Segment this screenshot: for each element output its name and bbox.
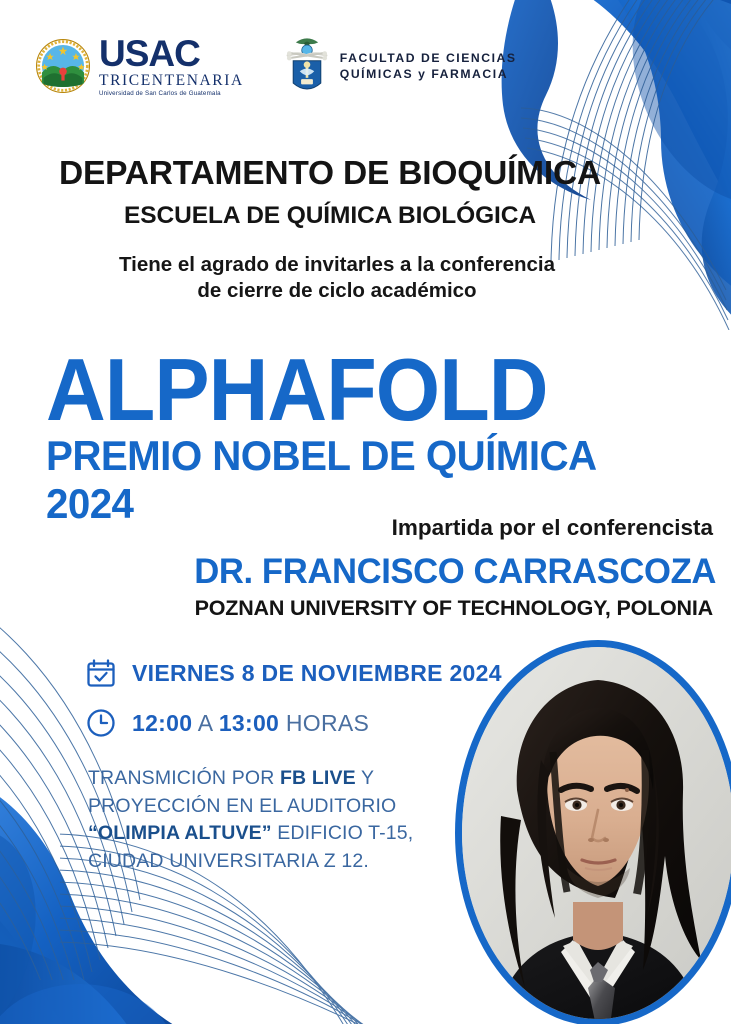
- clock-icon: [85, 707, 117, 739]
- venue-line-4: CIUDAD UNIVERSITARIA Z 12.: [88, 850, 369, 872]
- venue-line-2: PROYECCIÓN EN EL AUDITORIO: [88, 795, 396, 817]
- faculty-logo: FACULTAD DE CIENCIAS QUÍMICAS y FARMACIA: [284, 33, 517, 99]
- usac-acronym: USAC: [99, 35, 244, 72]
- usac-logo: USAC TRICENTENARIA Universidad de San Ca…: [36, 35, 244, 97]
- invitation-line-2: de cierre de ciclo académico: [0, 278, 674, 304]
- faculty-line-2: QUÍMICAS y FARMACIA: [340, 66, 517, 82]
- date-row: VIERNES 8 DE NOVIEMBRE 2024: [85, 657, 502, 689]
- venue-line-1-post: Y: [356, 767, 374, 789]
- speaker-photo: [455, 640, 731, 1024]
- time-unit: HORAS: [286, 710, 369, 736]
- speaker-intro: Impartida por el conferencista: [0, 515, 713, 541]
- venue-auditorium-name: “OLIMPIA ALTUVE”: [88, 822, 272, 844]
- speaker-portrait-illustration: [455, 640, 731, 1024]
- main-title: ALPHAFOLD: [46, 348, 648, 432]
- event-time: 12:00 A 13:00 HORAS: [132, 710, 369, 737]
- venue-line-1-pre: TRANSMICIÓN POR: [88, 767, 280, 789]
- usac-wordmark: USAC TRICENTENARIA Universidad de San Ca…: [99, 35, 244, 97]
- usac-tricentenaria: TRICENTENARIA: [99, 73, 244, 89]
- usac-seal-icon: [36, 39, 90, 93]
- title-subtitle: PREMIO NOBEL DE QUÍMICA 2024: [46, 432, 680, 528]
- faculty-line-1: FACULTAD DE CIENCIAS: [340, 50, 517, 66]
- faculty-wordmark: FACULTAD DE CIENCIAS QUÍMICAS y FARMACIA: [340, 50, 517, 83]
- time-row: 12:00 A 13:00 HORAS: [85, 707, 369, 739]
- speaker-name: DR. FRANCISCO CARRASCOZA: [7, 552, 716, 592]
- venue-line-3-post: EDIFICIO T-15,: [272, 822, 414, 844]
- usac-subtitle: Universidad de San Carlos de Guatemala: [99, 91, 244, 97]
- invitation-line-1: Tiene el agrado de invitarles a la confe…: [0, 252, 674, 278]
- speaker-affiliation: POZNAN UNIVERSITY OF TECHNOLOGY, POLONIA: [0, 596, 713, 621]
- header-logos: USAC TRICENTENARIA Universidad de San Ca…: [36, 33, 517, 99]
- time-end: 13:00: [219, 710, 279, 736]
- invitation-text: Tiene el agrado de invitarles a la confe…: [0, 252, 674, 304]
- poster-canvas: USAC TRICENTENARIA Universidad de San Ca…: [0, 0, 731, 1024]
- calendar-check-icon: [85, 657, 117, 689]
- venue-broadcast-channel: FB LIVE: [280, 767, 356, 789]
- event-date: VIERNES 8 DE NOVIEMBRE 2024: [132, 660, 502, 687]
- speaker-photo-ring: [455, 640, 731, 1024]
- time-separator: A: [198, 710, 212, 736]
- venue-info: TRANSMICIÓN POR FB LIVE Y PROYECCIÓN EN …: [88, 765, 448, 876]
- department-heading: DEPARTAMENTO DE BIOQUÍMICA: [0, 155, 660, 193]
- school-heading: ESCUELA DE QUÍMICA BIOLÓGICA: [0, 202, 660, 230]
- time-start: 12:00: [132, 710, 192, 736]
- faculty-coat-of-arms-icon: [284, 33, 330, 99]
